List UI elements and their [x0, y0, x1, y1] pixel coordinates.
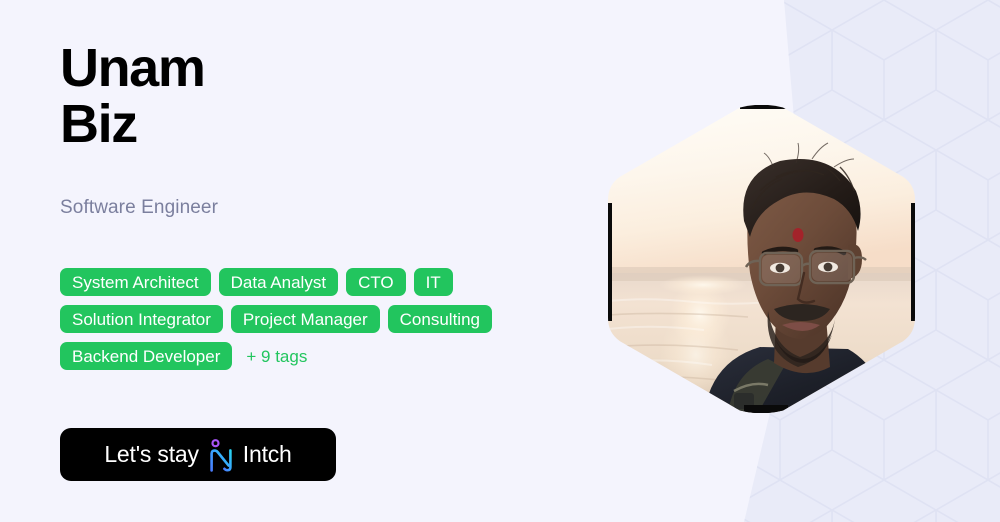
tag-chip[interactable]: System Architect [60, 268, 211, 296]
tag-chip[interactable]: Data Analyst [219, 268, 338, 296]
tag-chip[interactable]: Consulting [388, 305, 492, 333]
tag-chip[interactable]: Backend Developer [60, 342, 232, 370]
profile-name-line-2: Biz [60, 96, 620, 152]
tag-chip[interactable]: Project Manager [231, 305, 380, 333]
lets-stay-intch-button[interactable]: Let's stay Intch [60, 428, 336, 481]
profile-name-line-1: Unam [60, 40, 620, 96]
cta-label-after: Intch [243, 443, 292, 466]
profile-job-title: Software Engineer [60, 197, 218, 219]
profile-tag-list: System Architect Data Analyst CTO IT Sol… [60, 268, 620, 370]
intch-logo-dot [212, 440, 218, 446]
more-tags-link[interactable]: + 9 tags [246, 348, 307, 365]
cta-label-before: Let's stay [104, 443, 198, 466]
intch-logo-icon [207, 439, 235, 473]
avatar [608, 105, 915, 413]
tag-chip[interactable]: IT [414, 268, 453, 296]
profile-name: Unam Biz [60, 40, 620, 152]
tag-chip[interactable]: CTO [346, 268, 406, 296]
profile-card: Unam Biz Software Engineer System Archit… [0, 0, 1000, 522]
tag-chip[interactable]: Solution Integrator [60, 305, 223, 333]
